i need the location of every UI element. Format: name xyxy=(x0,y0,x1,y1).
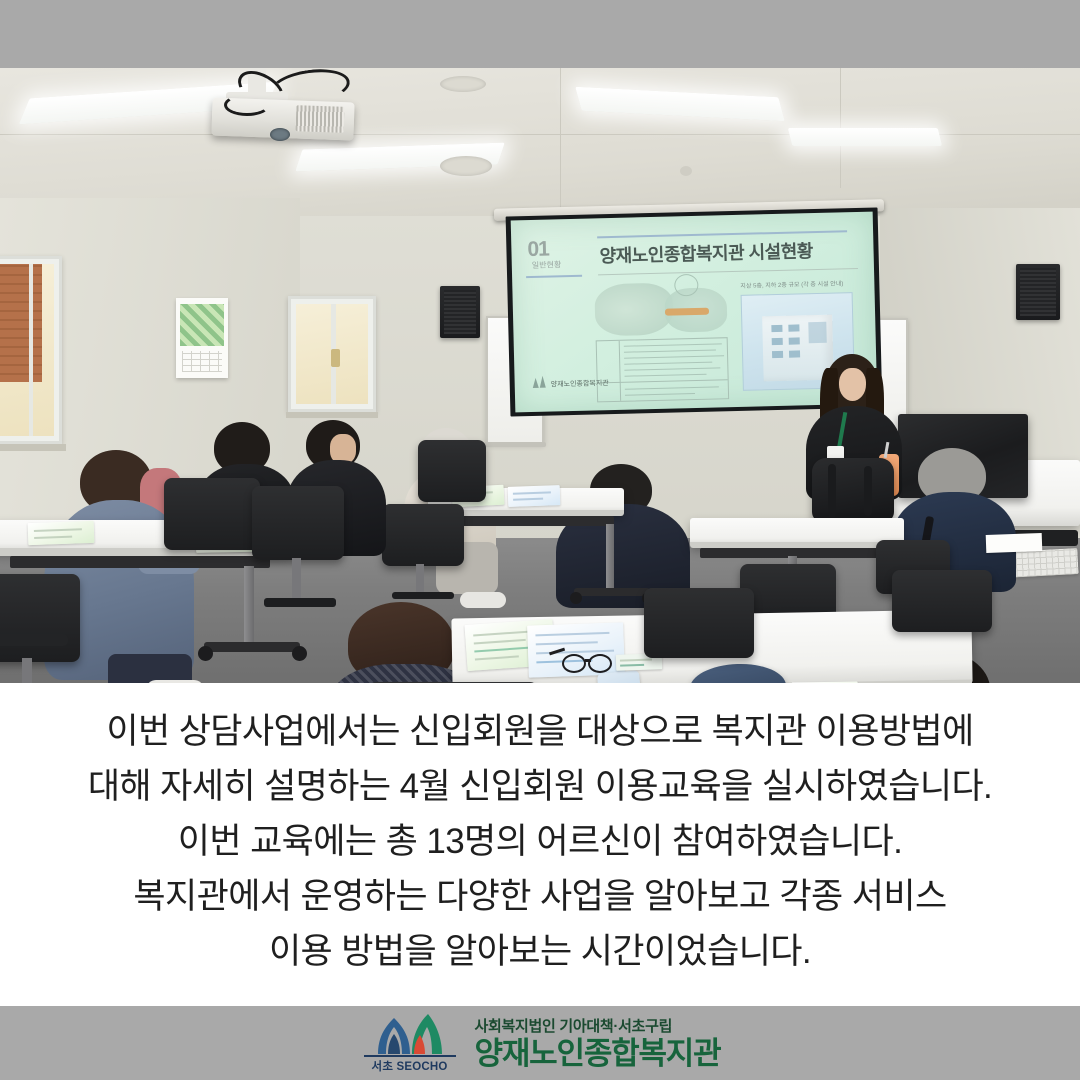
slide-accent-rule xyxy=(526,275,582,278)
speaker-grill xyxy=(1020,268,1056,316)
seocho-logo-mark: 서초 SEOCHO xyxy=(360,1014,460,1072)
caster-wheel xyxy=(198,646,213,661)
slide-section-label: 일반현황 xyxy=(532,259,562,271)
office-chair xyxy=(0,574,80,662)
table-text-line xyxy=(625,386,719,389)
backpack xyxy=(812,458,894,522)
caption-line: 대해 자세히 설명하는 4월 신입회원 이용교육을 실시하였습니다. xyxy=(88,760,992,813)
slide-info-table xyxy=(596,337,729,402)
slide-section-number: 01 xyxy=(527,238,549,263)
eyeglasses xyxy=(562,654,586,673)
window-glass xyxy=(0,264,54,436)
card-text-line xyxy=(620,664,644,666)
caption-line: 이번 교육에는 총 13명의 어르신이 참여하였습니다. xyxy=(178,815,902,868)
calendar-image xyxy=(180,304,225,346)
paper xyxy=(986,533,1043,553)
chair-armrest xyxy=(0,634,68,646)
office-chair xyxy=(382,504,464,566)
fluorescent-light-panel xyxy=(788,128,942,146)
office-chair xyxy=(418,440,486,502)
brochure-text-line xyxy=(34,528,82,532)
table-text-line xyxy=(625,393,695,396)
slide-building-window xyxy=(808,322,826,343)
slide-building-window xyxy=(789,325,800,332)
footer-brand-bar: 서초 SEOCHO 사회복지법인 기아대책·서초구립 양재노인종합복지관 xyxy=(0,1006,1080,1080)
ceiling-vent-icon xyxy=(440,76,486,92)
presenter-face xyxy=(839,368,866,401)
office-chair xyxy=(252,486,344,560)
brochure-text-line xyxy=(535,632,609,637)
ceiling-seam xyxy=(560,68,561,218)
desk-rail xyxy=(438,516,614,526)
caption-line: 이번 상담사업에서는 신입회원을 대상으로 복지관 이용방법에 xyxy=(106,705,973,758)
office-chair xyxy=(164,478,260,550)
wall-speaker xyxy=(1016,264,1060,320)
slide-logo-text: 양재노인종합복지관 xyxy=(551,378,609,389)
chair-base xyxy=(392,592,454,599)
chair-post xyxy=(22,658,32,683)
brochure-text-line xyxy=(474,639,526,645)
whiteboard-tray xyxy=(484,442,546,447)
caption-line: 이용 방법을 알아보는 시간이었습니다. xyxy=(269,925,811,978)
slide-divider xyxy=(598,268,858,275)
org-prefix: 사회복지법인 기아대책·서초구립 xyxy=(475,1015,721,1036)
top-gray-band xyxy=(0,0,1080,68)
desk-leg xyxy=(244,566,254,648)
speaker-grill xyxy=(444,290,476,334)
exterior-brick-wall xyxy=(0,264,42,382)
brochure-text-line xyxy=(536,641,598,645)
window xyxy=(288,296,376,412)
backpack-strap xyxy=(864,466,872,516)
caption-line: 복지관에서 운영하는 다양한 사업을 알아보고 각종 서비스 xyxy=(133,870,946,923)
brochure-text-line xyxy=(475,655,519,660)
desk-leg xyxy=(606,524,614,592)
projector-lens-icon xyxy=(270,128,290,141)
slide-building-window xyxy=(789,338,800,345)
office-chair xyxy=(644,588,754,658)
desk-foot xyxy=(204,642,300,652)
brochure-text-line xyxy=(34,536,72,539)
chair-post xyxy=(292,558,301,602)
sprinkler-icon xyxy=(680,166,692,176)
slide-map-region xyxy=(594,283,673,337)
desk-rail xyxy=(10,556,270,568)
social-card: 01 일반현황 양재노인종합복지관 시설현황 지상 5층, 지하 2층 규모 (… xyxy=(0,0,1080,1080)
brochure xyxy=(508,485,561,507)
office-chair xyxy=(892,570,992,632)
desk-foot xyxy=(574,588,650,596)
chair-post xyxy=(416,564,424,594)
brochure-text-line xyxy=(513,491,551,494)
eyeglasses xyxy=(588,654,612,673)
caster-wheel xyxy=(570,592,582,604)
card-text-line xyxy=(620,659,652,662)
wall-speaker xyxy=(440,286,480,338)
caption-block: 이번 상담사업에서는 신입회원을 대상으로 복지관 이용방법에 대해 자세히 설… xyxy=(0,683,1080,1006)
logo-mark-text: 서초 SEOCHO xyxy=(360,1058,460,1074)
projector-cable xyxy=(224,94,270,116)
brochure-text-line xyxy=(513,498,543,501)
window-sill xyxy=(286,412,378,418)
chair-base xyxy=(264,598,336,607)
slide-title: 양재노인종합복지관 시설현황 xyxy=(599,237,813,268)
slide-building-window xyxy=(772,351,783,358)
slide-logo-icon xyxy=(528,370,551,393)
brochure-text-line xyxy=(473,630,535,636)
shoe xyxy=(460,592,506,608)
projector-vent xyxy=(296,105,345,133)
slide-building-window xyxy=(789,351,800,358)
window-mullion xyxy=(29,264,33,436)
wall-calendar xyxy=(176,298,228,378)
footer-org-text: 사회복지법인 기아대책·서초구립 양재노인종합복지관 xyxy=(475,1015,721,1071)
slide-building-window xyxy=(771,338,782,345)
slide-map-badge xyxy=(665,308,709,316)
org-name: 양재노인종합복지관 xyxy=(475,1038,721,1071)
classroom-orientation-photo: 01 일반현황 양재노인종합복지관 시설현황 지상 5층, 지하 2층 규모 (… xyxy=(0,68,1080,683)
slide-building-window xyxy=(771,325,782,332)
calendar-date-grid xyxy=(182,351,222,372)
window-sill xyxy=(0,444,66,451)
ceiling-vent-icon xyxy=(440,156,492,176)
window-handle-icon[interactable] xyxy=(331,349,340,367)
attendee-legs xyxy=(108,654,192,683)
slide-note: 지상 5층, 지하 2층 규모 (각 층 시설 안내) xyxy=(740,278,843,290)
backpack-strap xyxy=(828,464,836,518)
caster-wheel xyxy=(292,646,307,661)
window xyxy=(0,256,62,444)
eyeglasses-bridge xyxy=(585,659,591,662)
brochure xyxy=(28,521,95,545)
seocho-logo-icon xyxy=(368,1014,452,1054)
logo-rule xyxy=(364,1055,456,1057)
